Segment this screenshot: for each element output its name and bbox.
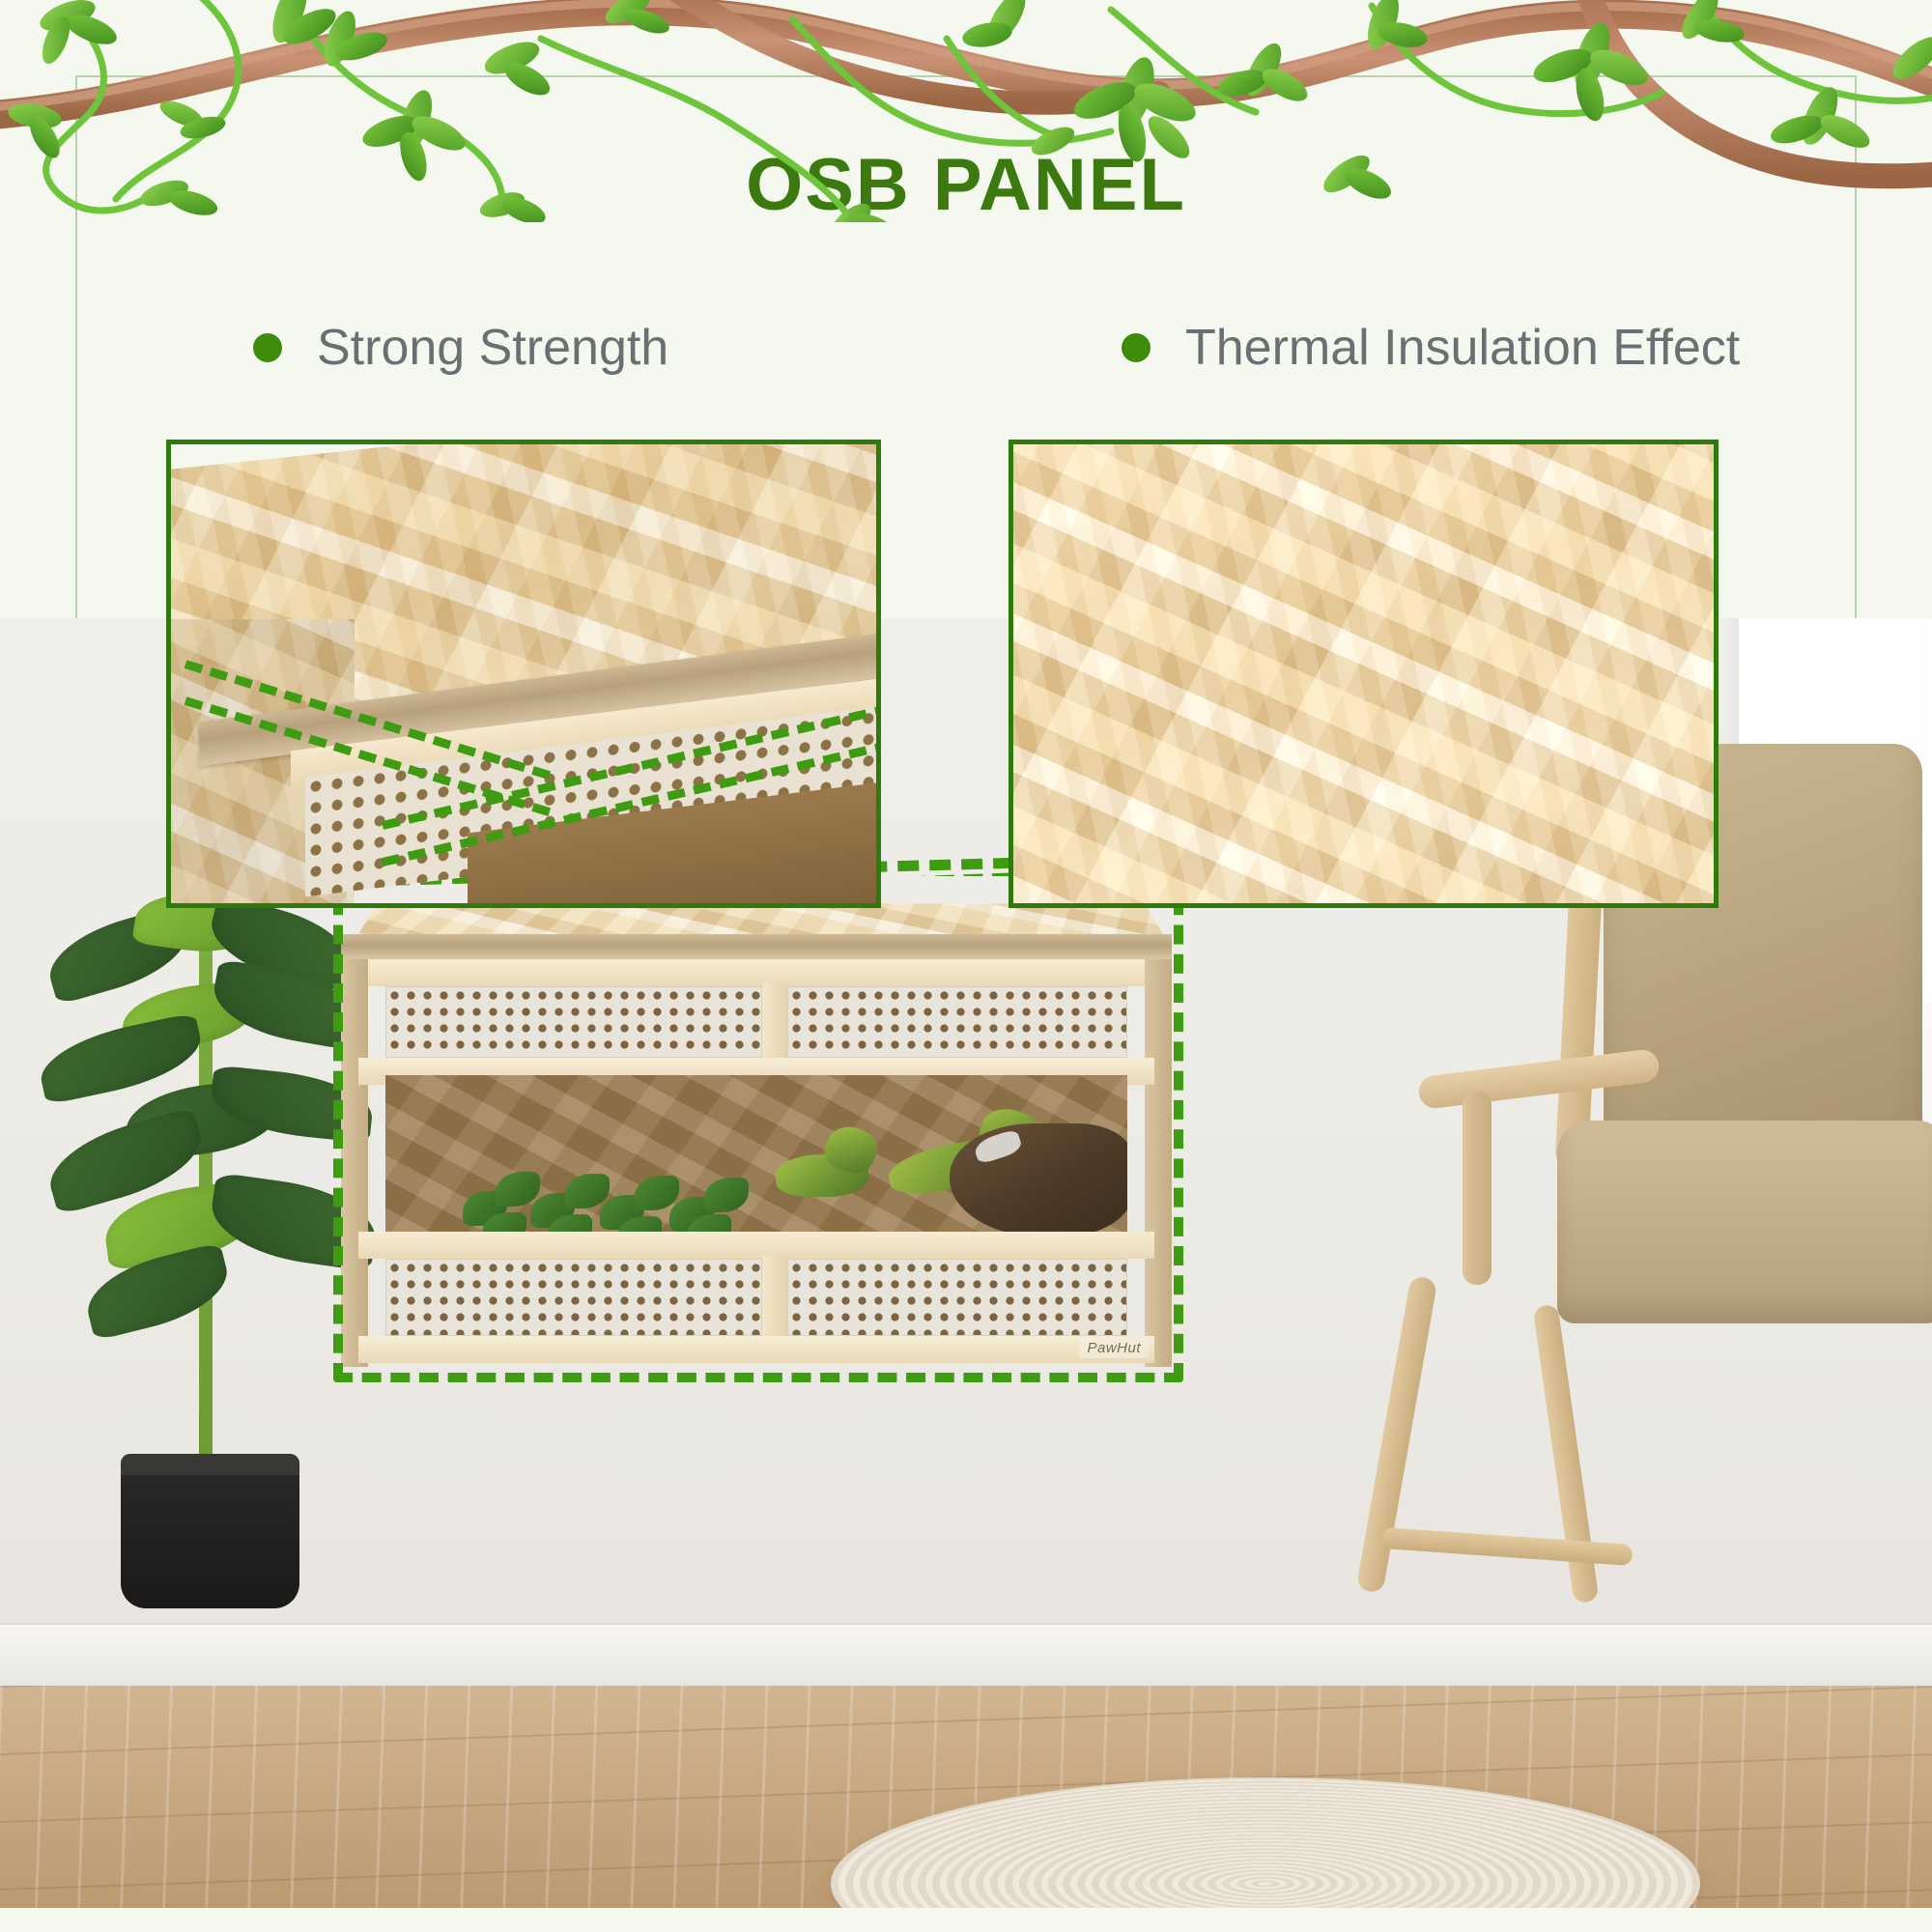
bullet-dot-icon (253, 333, 282, 362)
inset-osb-texture (1009, 440, 1719, 908)
feature-item-strength: Strong Strength (0, 319, 1064, 377)
highlight-outline (333, 867, 1183, 1382)
plant-stem (199, 874, 213, 1492)
osb-texture-surface (1013, 444, 1714, 903)
bullet-dot-icon (1122, 333, 1151, 362)
plant-pot (121, 1454, 299, 1608)
feature-item-insulation: Thermal Insulation Effect (1064, 319, 1932, 377)
infographic-page: PawHut OSB PANEL Strong Strength Therm (0, 0, 1932, 1932)
inset-osb-corner (166, 440, 881, 908)
feature-label: Thermal Insulation Effect (1185, 319, 1740, 377)
chair-arm-post (1463, 1092, 1492, 1285)
feature-list: Strong Strength Thermal Insulation Effec… (0, 319, 1932, 377)
feature-label: Strong Strength (317, 319, 668, 377)
chair-seat-cushion (1557, 1121, 1932, 1323)
vine-decoration (0, 0, 1932, 222)
reptile-terrarium: PawHut (333, 874, 1169, 1570)
